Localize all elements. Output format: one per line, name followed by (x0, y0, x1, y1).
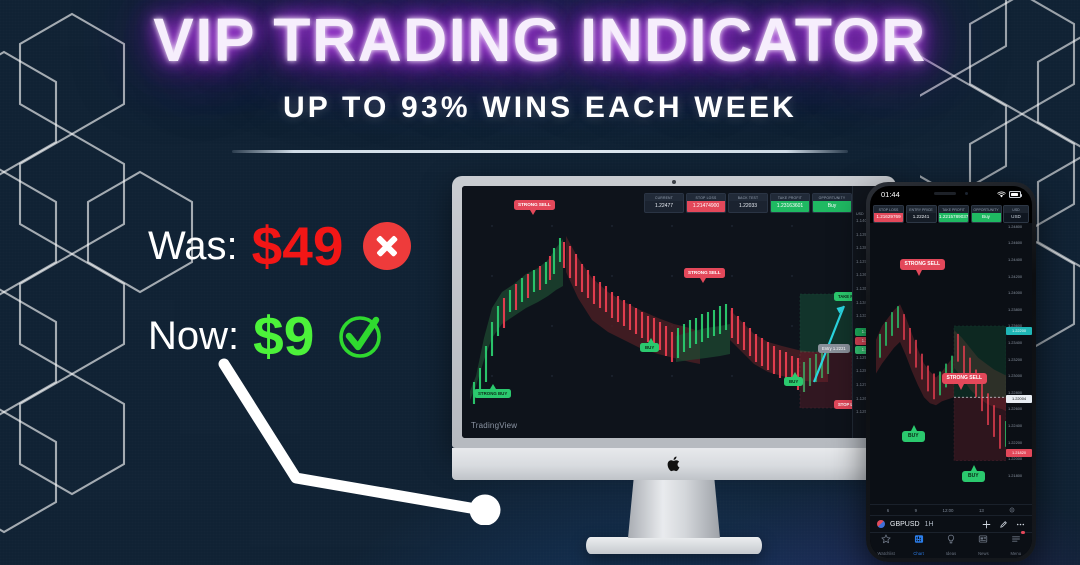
imac-mockup: STRONG SELL STRONG SELL STRONG BUY BUY (452, 176, 896, 554)
phone-screen: 01:44 (870, 186, 1032, 558)
phone-price-axis: 1.24800 1.24600 1.24400 1.24200 1.24000 … (1006, 223, 1032, 504)
desktop-info-panel: CURRENT 1.22477 STOP LOSS 1.21474900 BAC… (644, 193, 852, 213)
speaker-icon (934, 192, 956, 195)
tab-chart[interactable]: Chart (902, 531, 934, 558)
phone-notch (922, 188, 980, 199)
phone-chart[interactable]: STRONG SELL STRONG SELL BUY BUY (870, 223, 1032, 504)
phone-time-axis: 6 9 12:00 13 (870, 504, 1032, 515)
info-cell-current: CURRENT 1.22477 (644, 193, 684, 213)
add-icon[interactable] (982, 520, 991, 529)
imac-body: STRONG SELL STRONG SELL STRONG BUY BUY (452, 176, 896, 448)
trade-label-entry: Entry 1.2221 (818, 344, 850, 353)
phone-signal-buy-2: BUY (962, 465, 985, 482)
now-label: Now: (148, 314, 239, 359)
star-icon (870, 531, 902, 541)
page-subtitle: UP TO 93% WINS EACH WEEK (0, 91, 1080, 125)
tab-news[interactable]: News (967, 531, 999, 558)
was-amount: $49 (252, 219, 344, 274)
check-mark-icon (334, 310, 386, 362)
pricing-block: Was: $49 Now: $9 (148, 212, 411, 370)
info-cell-back-test: BACK TEST 1.22033 (728, 193, 768, 213)
signal-badge-buy-1: BUY (640, 338, 659, 352)
more-options-icon[interactable] (1016, 520, 1025, 529)
phone-signal-strong-sell-1: STRONG SELL (900, 259, 945, 276)
symbol-flag-icon (877, 520, 885, 528)
phone-mockup: 01:44 (866, 182, 1036, 562)
imac-stand-foot (586, 537, 762, 554)
imac-chin (452, 448, 896, 480)
phone-cell-currency[interactable]: USD USD (1003, 205, 1029, 223)
signal-badge-buy-2: BUY (784, 372, 803, 386)
now-amount: $9 (253, 309, 314, 364)
imac-stand-neck (628, 480, 720, 538)
phone-cell-opportunity: OPPORTUNITY Buy (971, 205, 1002, 223)
phone-cell-stop-loss: STOP LOSS 1.21629769 (873, 205, 904, 223)
phone-cell-entry-price: ENTRY PRICE 1.22241 (906, 205, 937, 223)
info-cell-take-profit: TAKE PROFIT 1.23163601 (770, 193, 810, 213)
symbol-bar-actions (982, 520, 1025, 529)
symbol-name[interactable]: GBPUSD (890, 521, 920, 528)
phone-price-tag-teal: 1.22200 (1006, 327, 1032, 335)
phone-symbol-bar: GBPUSD 1H (870, 515, 1032, 532)
banner-stage: VIP TRADING INDICATOR UP TO 93% WINS EAC… (0, 0, 1080, 565)
imac-camera-icon (672, 180, 676, 184)
phone-tab-bar: Watchlist Chart Ideas (870, 532, 1032, 558)
menu-badge (1021, 531, 1024, 534)
menu-icon (1000, 531, 1032, 541)
pointer-line (200, 350, 510, 525)
phone-price-tag-current: 1.22004 (1006, 395, 1032, 403)
headline-section: VIP TRADING INDICATOR UP TO 93% WINS EAC… (0, 8, 1080, 153)
timeframe[interactable]: 1H (925, 521, 934, 528)
tab-ideas[interactable]: Ideas (935, 531, 967, 558)
news-icon (967, 531, 999, 541)
lightbulb-icon (935, 531, 967, 541)
phone-status-bar: 01:44 (870, 186, 1032, 203)
signal-badge-strong-sell-1: STRONG SELL (514, 200, 555, 215)
x-mark-icon (363, 222, 411, 270)
page-title: VIP TRADING INDICATOR (0, 8, 1080, 72)
phone-info-panel: STOP LOSS 1.21629769 ENTRY PRICE 1.22241… (870, 203, 1032, 223)
wifi-icon (997, 191, 1006, 198)
status-icons (997, 191, 1021, 198)
price-row-now: Now: $9 (148, 302, 411, 370)
phone-price-tag-red: 1.21820 (1006, 449, 1032, 457)
battery-icon (1009, 191, 1021, 197)
status-time: 01:44 (881, 190, 900, 199)
draw-pencil-icon[interactable] (999, 520, 1008, 529)
tab-menu[interactable]: Menu (1000, 531, 1032, 558)
info-cell-opportunity: OPPORTUNITY Buy (812, 193, 852, 213)
phone-frame: 01:44 (866, 182, 1036, 562)
desktop-chart (462, 186, 886, 438)
tab-watchlist[interactable]: Watchlist (870, 531, 902, 558)
front-camera-icon (965, 192, 968, 195)
info-cell-stop-loss: STOP LOSS 1.21474900 (686, 193, 726, 213)
price-row-was: Was: $49 (148, 212, 411, 280)
chart-icon (902, 531, 934, 541)
divider (232, 150, 848, 153)
was-label: Was: (148, 224, 238, 269)
settings-gear-icon[interactable] (1009, 507, 1015, 513)
phone-signal-buy-1: BUY (902, 425, 925, 442)
phone-cell-take-profit: TAKE PROFIT 1.22157890378 (938, 205, 969, 223)
signal-badge-strong-sell-2: STRONG SELL (684, 268, 725, 283)
apple-logo-icon (667, 455, 682, 473)
imac-screen: STRONG SELL STRONG SELL STRONG BUY BUY (462, 186, 886, 438)
phone-signal-strong-sell-2: STRONG SELL (942, 373, 987, 390)
